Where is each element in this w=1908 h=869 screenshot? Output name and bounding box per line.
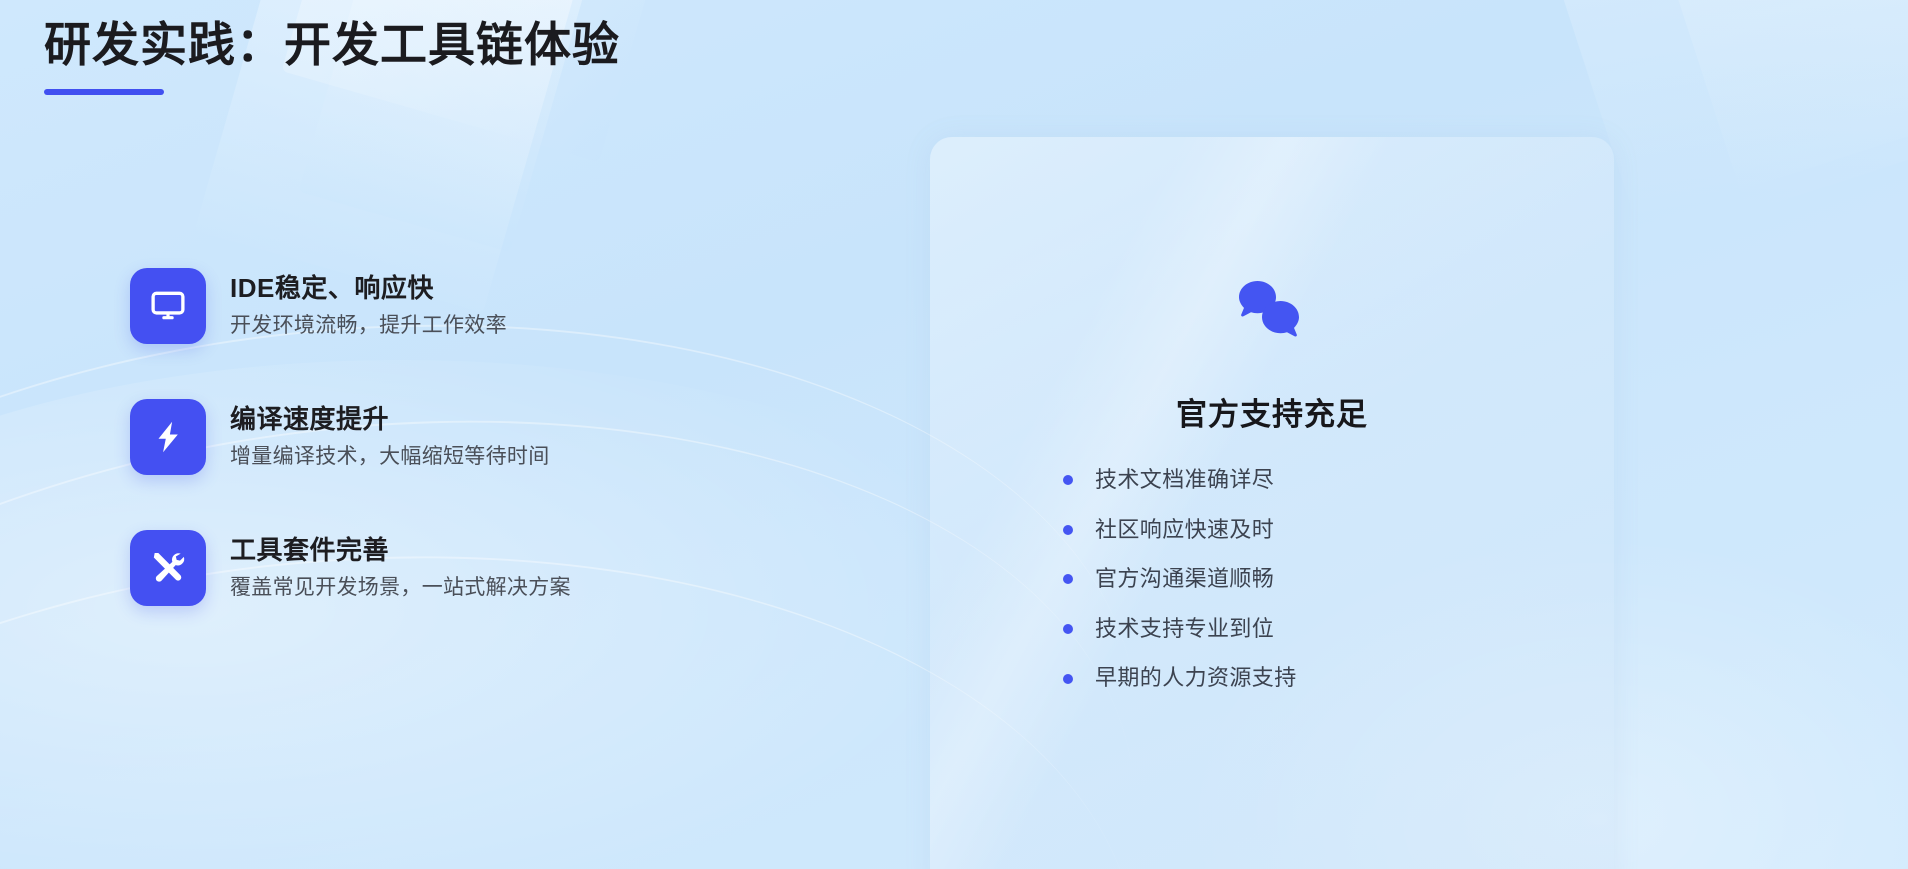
chat-bubbles-icon [1239,279,1305,341]
lightning-bolt-icon [130,399,206,475]
list-item: 技术文档准确详尽 [930,466,1614,495]
list-item-label: 官方沟通渠道顺畅 [1095,565,1274,594]
list-item: 官方沟通渠道顺畅 [930,565,1614,594]
title-underline-rule [44,89,164,95]
list-item: 技术支持专业到位 [930,615,1614,644]
support-card-title: 官方支持充足 [1176,389,1368,434]
list-item-label: 早期的人力资源支持 [1095,664,1297,693]
feature-item-compile: 编译速度提升 增量编译技术，大幅缩短等待时间 [130,399,571,475]
feature-description: 开发环境流畅，提升工作效率 [230,312,507,339]
list-item-label: 技术支持专业到位 [1095,615,1274,644]
feature-title: 工具套件完善 [230,534,571,567]
bullet-dot-icon [1063,475,1073,485]
feature-list: IDE稳定、响应快 开发环境流畅，提升工作效率 编译速度提升 增量编译技术，大幅… [130,268,571,606]
feature-description: 增量编译技术，大幅缩短等待时间 [230,443,550,470]
bullet-dot-icon [1063,574,1073,584]
feature-item-tools: 工具套件完善 覆盖常见开发场景，一站式解决方案 [130,530,571,606]
bullet-dot-icon [1063,624,1073,634]
support-bullet-list: 技术文档准确详尽 社区响应快速及时 官方沟通渠道顺畅 技术支持专业到位 早期的人… [930,466,1614,693]
tools-icon [130,530,206,606]
feature-text: 编译速度提升 增量编译技术，大幅缩短等待时间 [230,403,550,471]
feature-text: IDE稳定、响应快 开发环境流畅，提升工作效率 [230,272,507,340]
feature-title: 编译速度提升 [230,403,550,436]
monitor-icon [130,268,206,344]
feature-description: 覆盖常见开发场景，一站式解决方案 [230,574,571,601]
slide-root: 研发实践：开发工具链体验 IDE稳定、响应快 开发环境流畅，提升工作效率 [0,0,1908,869]
list-item-label: 社区响应快速及时 [1095,516,1274,545]
list-item: 社区响应快速及时 [930,516,1614,545]
list-item: 早期的人力资源支持 [930,664,1614,693]
support-card: 官方支持充足 技术文档准确详尽 社区响应快速及时 官方沟通渠道顺畅 技术支持专业… [930,137,1614,869]
bullet-dot-icon [1063,674,1073,684]
background-panel-5 [1645,0,1908,212]
title-block: 研发实践：开发工具链体验 [44,14,620,95]
feature-title: IDE稳定、响应快 [230,272,507,305]
bullet-dot-icon [1063,525,1073,535]
support-card-content: 官方支持充足 技术文档准确详尽 社区响应快速及时 官方沟通渠道顺畅 技术支持专业… [930,137,1614,693]
feature-text: 工具套件完善 覆盖常见开发场景，一站式解决方案 [230,534,571,602]
feature-item-ide: IDE稳定、响应快 开发环境流畅，提升工作效率 [130,268,571,344]
page-title: 研发实践：开发工具链体验 [44,14,620,75]
list-item-label: 技术文档准确详尽 [1095,466,1274,495]
